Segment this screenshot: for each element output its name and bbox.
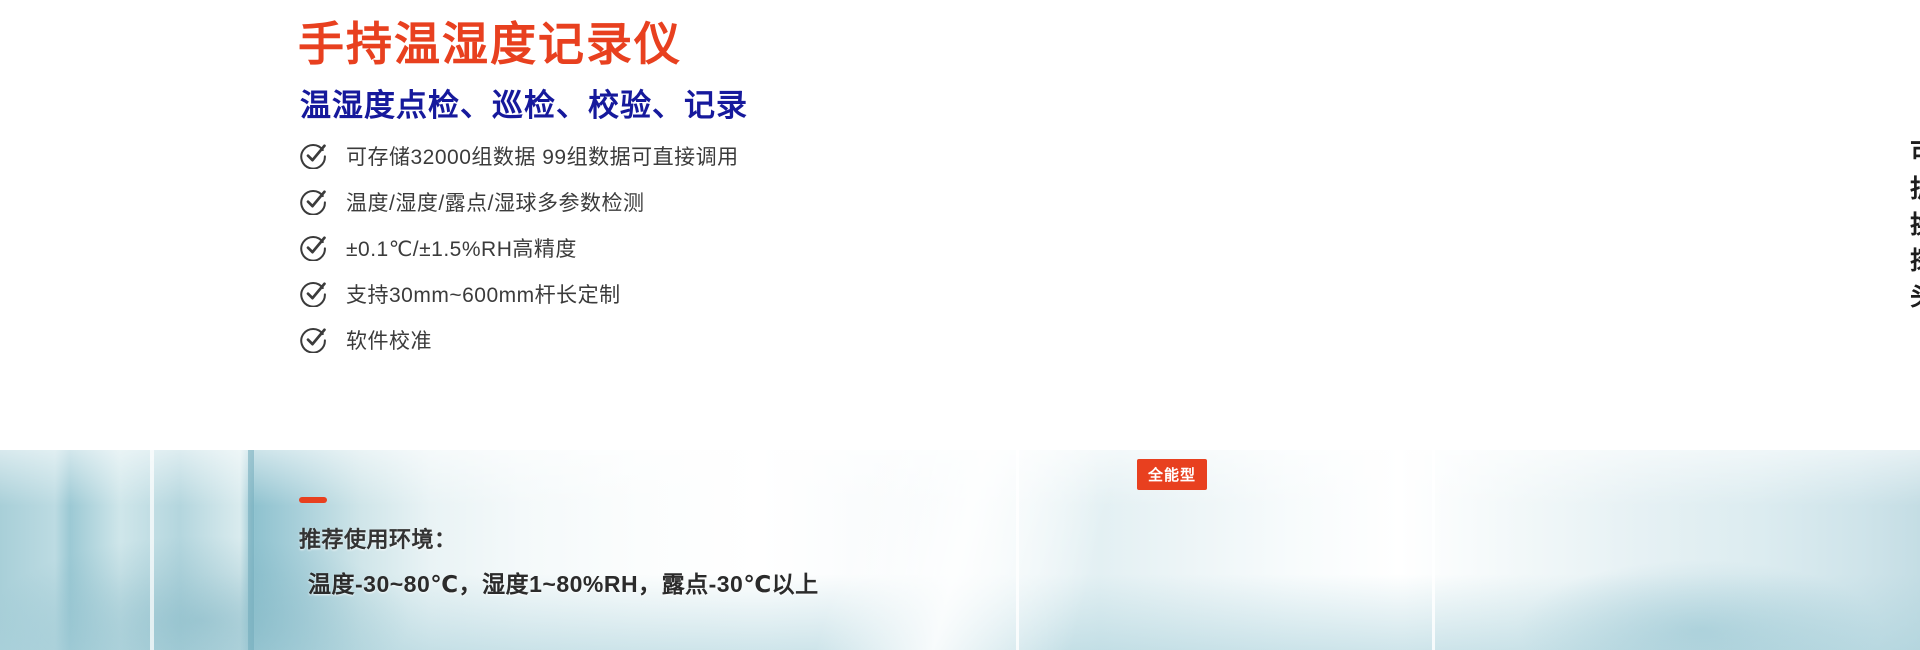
product-banner: 手持温湿度记录仪 温湿度点检、巡检、校验、记录 可存储32000组数据 99组数…	[0, 0, 1920, 650]
circled-check-icon	[300, 188, 327, 215]
circled-check-icon	[300, 234, 327, 261]
circled-check-icon	[300, 142, 327, 169]
feature-text: 软件校准	[346, 325, 432, 355]
environment-detail: 温度-30~80℃，湿度1~80%RH，露点-30℃以上	[308, 565, 819, 599]
circled-check-icon	[300, 326, 327, 353]
feature-text: ±0.1℃/±1.5%RH高精度	[346, 233, 577, 263]
list-item: 支持30mm~600mm杆长定制	[300, 271, 739, 316]
red-dash-divider	[299, 497, 327, 503]
feature-text: 支持30mm~600mm杆长定制	[346, 279, 621, 309]
copy-block: 手持温湿度记录仪 温湿度点检、巡检、校验、记录 可存储32000组数据 99组数…	[0, 0, 980, 650]
circled-check-icon	[300, 280, 327, 307]
status-badge: 全能型	[1137, 459, 1207, 490]
feature-list: 可存储32000组数据 99组数据可直接调用 温度/湿度/露点/湿球多参数检测	[300, 133, 739, 363]
feature-text: 温度/湿度/露点/湿球多参数检测	[346, 187, 645, 217]
environment-heading: 推荐使用环境：	[299, 522, 457, 554]
page-subtitle: 温湿度点检、巡检、校验、记录	[300, 80, 748, 125]
list-item: 可存储32000组数据 99组数据可直接调用	[300, 133, 739, 178]
list-item: 软件校准	[300, 317, 739, 362]
feature-text: 可存储32000组数据 99组数据可直接调用	[346, 141, 739, 171]
list-item: ±0.1℃/±1.5%RH高精度	[300, 225, 739, 270]
product-image-area: 可拆换探头 HENGKO 52.0 % RH 28.08 ℃	[930, 0, 1920, 650]
probe-label: 可拆换探头	[1910, 133, 1920, 313]
list-item: 温度/湿度/露点/湿球多参数检测	[300, 179, 739, 224]
page-title: 手持温湿度记录仪	[298, 8, 682, 74]
